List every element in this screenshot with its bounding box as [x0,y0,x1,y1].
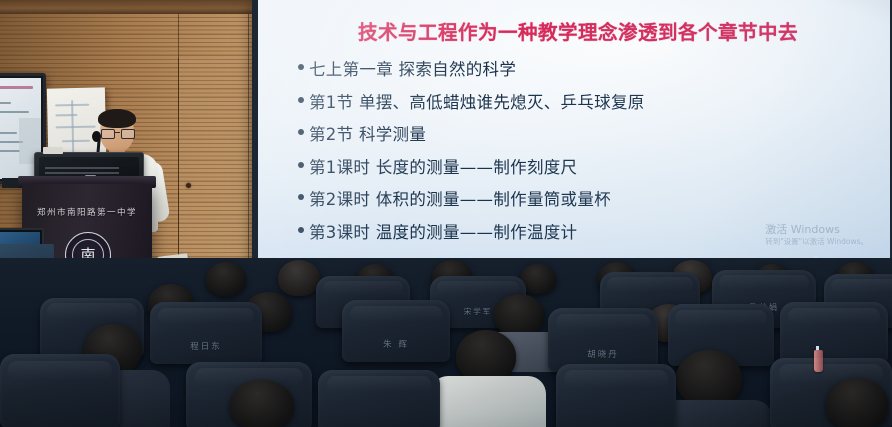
audience-head [206,262,246,296]
water-bottle [814,350,823,372]
bullet-dot-icon [298,227,304,233]
table-row[interactable] [556,364,676,427]
audience-head [826,378,888,427]
table-row[interactable]: 程日东 [150,302,262,364]
lecture-hall-photo: 技术与工程作为一种教学理念渗透到各个章节中去 七上第一章 探索自然的科学 第1节… [0,0,892,427]
bullet-text: 第1课时 长度的测量——制作刻度尺 [309,154,577,178]
watermark-subtitle: 转到"设置"以激活 Windows。 [765,237,868,246]
list-item: 第2节 科学测量 [298,121,878,145]
watermark-title: 激活 Windows [765,223,868,237]
seat-label: 程日东 [150,340,262,352]
audience-head [456,330,516,382]
projection-screen: 技术与工程作为一种教学理念渗透到各个章节中去 七上第一章 探索自然的科学 第1节… [258,0,890,260]
bullet-dot-icon [298,162,304,168]
list-item: 第1节 单摆、高低蜡烛谁先熄灭、乒乓球复原 [298,89,878,113]
audience-shoulders [430,376,546,427]
table-row[interactable]: 朱 辉 [342,300,450,362]
microphone-icon [92,131,101,142]
slide-bullet-list: 七上第一章 探索自然的科学 第1节 单摆、高低蜡烛谁先熄灭、乒乓球复原 第2节 … [298,56,878,251]
bullet-text: 第2节 科学测量 [309,121,426,145]
audience-head [676,350,742,406]
list-item: 第2课时 体积的测量——制作量筒或量杯 [298,186,878,210]
bullet-text: 第1节 单摆、高低蜡烛谁先熄灭、乒乓球复原 [309,89,645,113]
bullet-dot-icon [298,97,304,103]
table-row[interactable] [0,354,120,427]
table-row[interactable]: 胡晓丹 [548,308,658,372]
bullet-text: 第2课时 体积的测量——制作量筒或量杯 [309,186,611,210]
list-item: 第1课时 长度的测量——制作刻度尺 [298,154,878,178]
door-knob-icon[interactable] [186,183,191,188]
audience-head [278,260,320,296]
podium-school-name: 郑州市南阳路第一中学 [22,206,152,218]
windows-activation-watermark: 激活 Windows 转到"设置"以激活 Windows。 [765,223,868,246]
list-item: 七上第一章 探索自然的科学 [298,56,878,80]
seat-label: 朱 辉 [342,338,450,350]
bullet-dot-icon [298,64,304,70]
audience-head [230,380,294,427]
bullet-text: 第3课时 温度的测量——制作温度计 [309,219,577,243]
slide-title: 技术与工程作为一种教学理念渗透到各个章节中去 [298,16,858,45]
bullet-text: 七上第一章 探索自然的科学 [309,56,516,80]
seat-label: 胡晓丹 [548,348,658,360]
table-row[interactable] [780,302,888,364]
bullet-dot-icon [298,194,304,200]
table-row[interactable] [318,370,440,427]
presenter-hair [98,109,136,128]
bullet-dot-icon [298,129,304,135]
laptop-note-tab [43,147,63,154]
audience-head [494,294,544,336]
glasses-icon [101,129,133,137]
audience-seating: 宋学军 马井娟 朱 辉 程日东 胡晓丹 [0,258,892,427]
